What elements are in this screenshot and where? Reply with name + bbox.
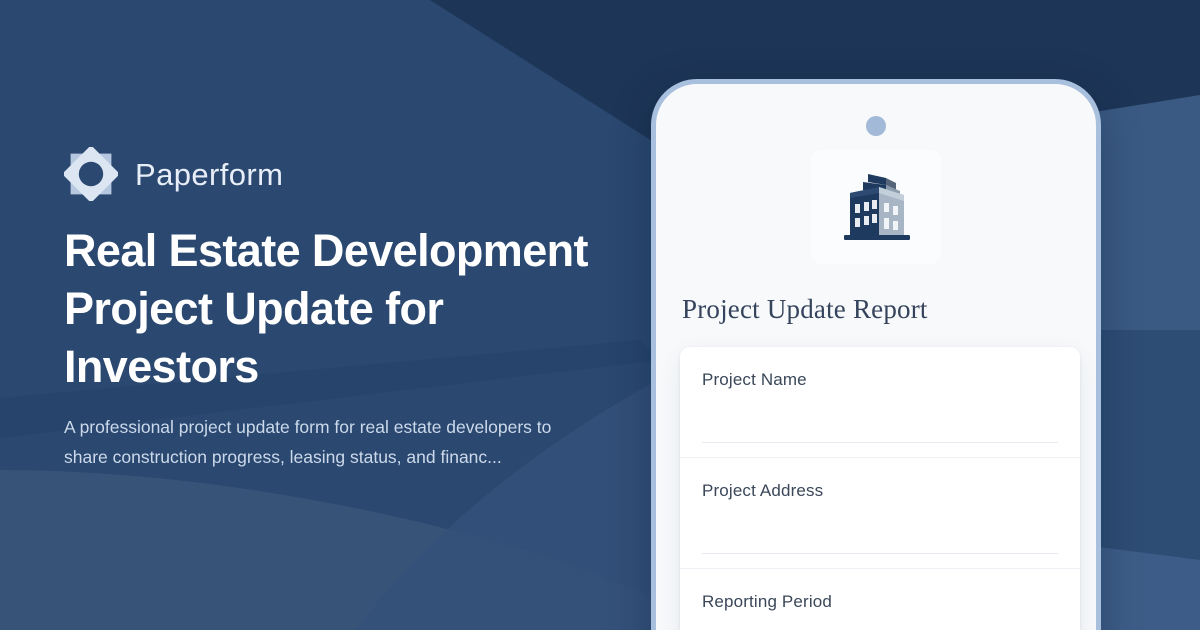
form-field-reporting-period: Reporting Period <box>680 569 1080 630</box>
paperform-logo-icon <box>64 147 118 201</box>
office-building-icon <box>834 165 918 249</box>
reporting-period-input[interactable] <box>702 613 1058 630</box>
promo-canvas: Paperform Real Estate Development Projec… <box>0 0 1200 630</box>
form-title: Project Update Report <box>656 294 1096 325</box>
page-title: Real Estate Development Project Update f… <box>64 222 594 396</box>
brand-name: Paperform <box>135 159 283 190</box>
form-field-project-name: Project Name <box>680 347 1080 458</box>
project-name-input[interactable] <box>702 391 1058 443</box>
field-label: Project Address <box>702 480 1058 502</box>
form-header-image <box>811 150 941 264</box>
phone-mockup: Project Update Report Project Name Proje… <box>651 79 1101 630</box>
form-card: Project Name Project Address Reporting P… <box>680 347 1080 630</box>
brand-lockup: Paperform <box>64 147 283 201</box>
phone-screen: Project Update Report Project Name Proje… <box>656 84 1096 630</box>
page-subtitle: A professional project update form for r… <box>64 412 576 472</box>
project-address-input[interactable] <box>702 502 1058 554</box>
field-label: Project Name <box>702 369 1058 391</box>
form-field-project-address: Project Address <box>680 458 1080 569</box>
hero-panel: Paperform Real Estate Development Projec… <box>64 0 604 630</box>
field-label: Reporting Period <box>702 591 1058 613</box>
